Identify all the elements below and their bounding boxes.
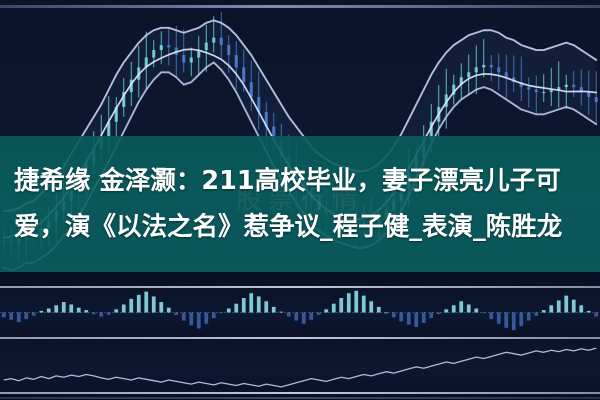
top-divider-line bbox=[0, 5, 600, 8]
headline-block: 捷希缘 金泽灏：211高校毕业，妻子漂亮儿子可 爱，演《以法之名》惹争议_程子健… bbox=[0, 138, 600, 270]
line-panel-bottom-divider bbox=[0, 392, 600, 394]
headline-line-2: 爱，演《以法之名》惹争议_程子健_表演_陈胜龙 bbox=[14, 204, 586, 250]
banner-image: 股票行情 捷希缘 金泽灏：211高校毕业，妻子漂亮儿子可 爱，演《以法之名》惹争… bbox=[0, 0, 600, 400]
bottom-edge-divider bbox=[0, 397, 600, 399]
macd-bottom-divider bbox=[0, 337, 600, 339]
macd-top-divider bbox=[0, 286, 600, 288]
headline-line-1: 捷希缘 金泽灏：211高校毕业，妻子漂亮儿子可 bbox=[14, 158, 586, 204]
